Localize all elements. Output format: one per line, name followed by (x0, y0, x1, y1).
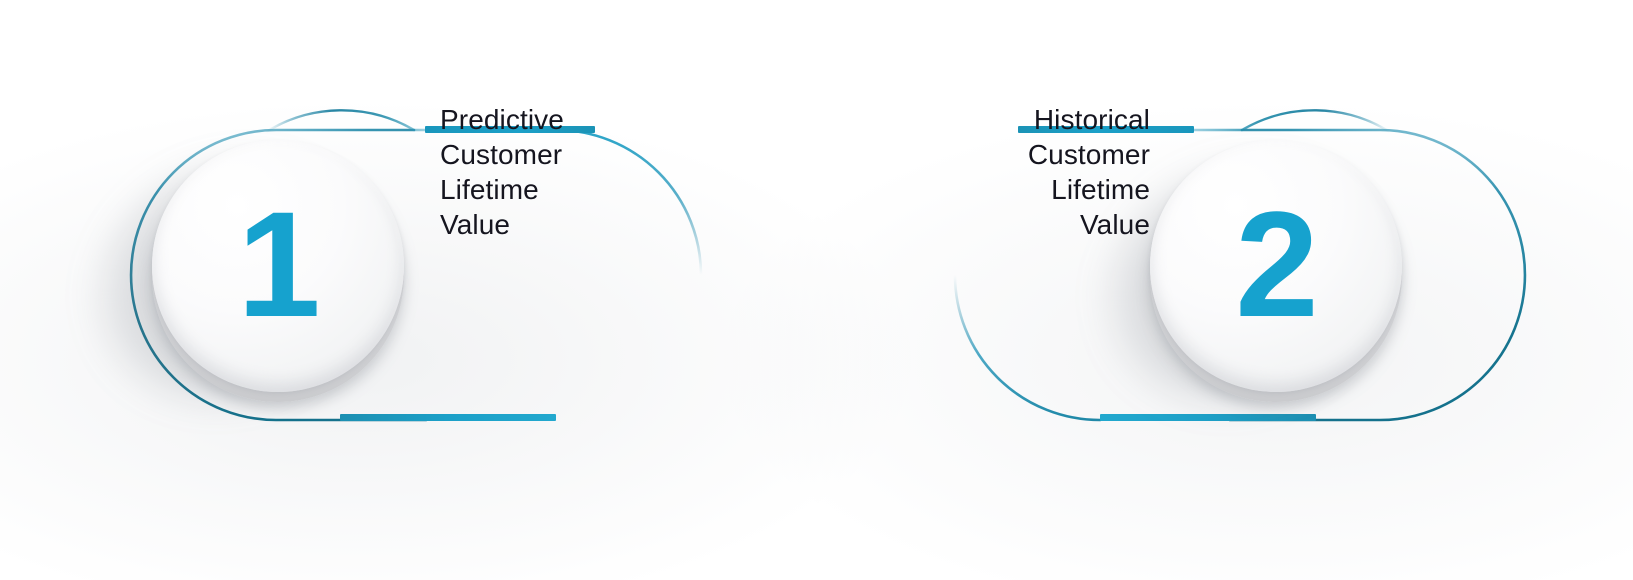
step-circle-2[interactable]: 2 (1150, 140, 1402, 392)
step-item-2[interactable]: 2 Historical Customer Lifetime Value (800, 0, 1560, 580)
circle-face: 1 (152, 140, 404, 392)
infographic-root: 1 Predictive Customer Lifetime Value (0, 0, 1633, 580)
step-number-1: 1 (237, 189, 318, 339)
step-number-2: 2 (1235, 189, 1316, 339)
caption-line: Value (900, 207, 1150, 242)
step-caption-2: Historical Customer Lifetime Value (900, 102, 1150, 242)
caption-line: Lifetime (900, 172, 1150, 207)
caption-line: Predictive (440, 102, 690, 137)
step-circle-1[interactable]: 1 (152, 140, 404, 392)
caption-line: Customer (440, 137, 690, 172)
caption-line: Value (440, 207, 690, 242)
caption-line: Customer (900, 137, 1150, 172)
step-caption-1: Predictive Customer Lifetime Value (440, 102, 690, 242)
caption-line: Historical (900, 102, 1150, 137)
caption-line: Lifetime (440, 172, 690, 207)
circle-face: 2 (1150, 140, 1402, 392)
step-item-1[interactable]: 1 Predictive Customer Lifetime Value (96, 0, 856, 580)
